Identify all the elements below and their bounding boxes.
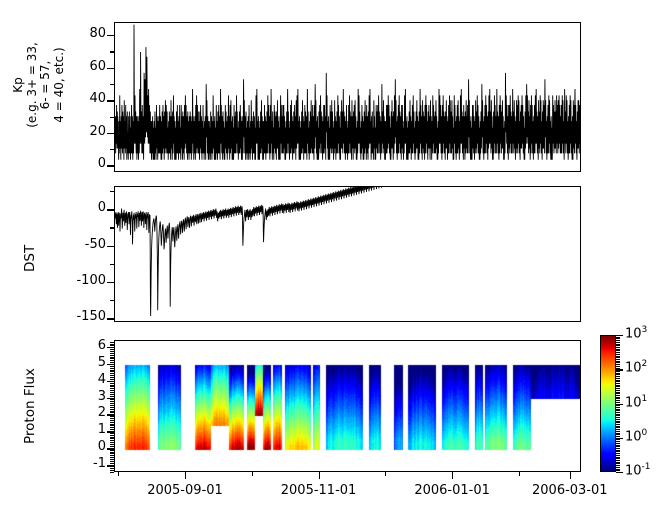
- y-minor-tick-mark: [110, 455, 114, 456]
- y-minor-tick-mark: [110, 264, 114, 265]
- y-minor-tick-mark: [110, 358, 114, 359]
- x-minor-tick-mark: [385, 472, 386, 476]
- colorbar-minor-tick-mark: [616, 359, 620, 360]
- y-tick-label: 0: [40, 156, 106, 171]
- y-minor-tick-mark: [110, 414, 114, 415]
- x-tick-mark: [570, 472, 571, 479]
- y-tick-mark: [107, 246, 114, 247]
- colorbar-minor-tick-mark: [616, 426, 620, 427]
- colorbar-minor-tick-mark: [616, 450, 620, 451]
- y-minor-tick-mark: [110, 349, 114, 350]
- y-minor-tick-mark: [110, 396, 114, 397]
- colorbar-minor-tick-mark: [616, 470, 620, 471]
- x-minor-tick-mark: [519, 472, 520, 476]
- y-minor-tick-mark: [110, 472, 114, 473]
- y-minor-tick-mark: [110, 392, 114, 393]
- y-minor-tick-mark: [110, 403, 114, 404]
- y-tick-label: 3: [60, 389, 106, 404]
- y-tick-mark: [107, 68, 114, 69]
- y-minor-tick-mark: [110, 440, 114, 441]
- colorbar-minor-tick-mark: [616, 445, 620, 446]
- y-minor-tick-mark: [110, 344, 114, 345]
- colorbar-minor-tick-mark: [616, 424, 620, 425]
- colorbar-minor-tick-mark: [616, 417, 620, 418]
- y-minor-tick-mark: [110, 373, 114, 374]
- colorbar-minor-tick-mark: [616, 469, 620, 470]
- y-minor-tick-mark: [110, 84, 114, 85]
- colorbar-minor-tick-mark: [616, 350, 620, 351]
- y-minor-tick-mark: [110, 381, 114, 382]
- y-minor-tick-mark: [110, 437, 114, 438]
- y-minor-tick-mark: [110, 191, 114, 192]
- y-minor-tick-mark: [110, 465, 114, 466]
- colorbar-tick-label: 101: [625, 394, 647, 410]
- x-minor-tick-mark: [185, 472, 186, 476]
- y-minor-tick-mark: [110, 357, 114, 358]
- dst-timeseries-plot: [115, 187, 580, 321]
- y-minor-tick-mark: [110, 448, 114, 449]
- colorbar-minor-tick-mark: [616, 410, 620, 411]
- colorbar-minor-tick-mark: [616, 460, 620, 461]
- y-minor-tick-mark: [110, 429, 114, 430]
- colorbar-minor-tick-mark: [616, 429, 620, 430]
- colorbar-minor-tick-mark: [616, 345, 620, 346]
- y-minor-tick-mark: [110, 459, 114, 460]
- x-minor-tick-mark: [319, 472, 320, 476]
- x-tick-label: 2005-09-01: [130, 483, 240, 498]
- y-minor-tick-mark: [110, 345, 114, 346]
- y-minor-tick-mark: [110, 416, 114, 417]
- y-minor-tick-mark: [110, 362, 114, 363]
- y-tick-mark: [107, 318, 114, 319]
- y-minor-tick-mark: [110, 422, 114, 423]
- y-minor-tick-mark: [110, 466, 114, 467]
- kp-timeseries-plot: [115, 23, 580, 171]
- dst-axis-label: DST: [22, 245, 38, 272]
- y-minor-tick-mark: [110, 412, 114, 413]
- y-minor-tick-mark: [110, 227, 114, 228]
- series-path: [115, 25, 580, 160]
- colorbar-minor-tick-mark: [616, 388, 620, 389]
- y-minor-tick-mark: [110, 353, 114, 354]
- colorbar-minor-tick-mark: [616, 443, 620, 444]
- y-tick-label: 5: [60, 355, 106, 370]
- colorbar-minor-tick-mark: [616, 373, 620, 374]
- figure-root: Kp (e.g. 3+ = 33, 6- = 57, 4 = 40, etc.)…: [0, 0, 665, 523]
- y-minor-tick-mark: [110, 371, 114, 372]
- y-minor-tick-mark: [110, 364, 114, 365]
- colorbar-minor-tick-mark: [616, 463, 620, 464]
- y-tick-mark: [107, 282, 114, 283]
- colorbar-minor-tick-mark: [616, 364, 620, 365]
- colorbar-minor-tick-mark: [616, 369, 620, 370]
- y-tick-mark: [107, 35, 114, 36]
- y-tick-label: -100: [40, 273, 106, 288]
- colorbar-minor-tick-mark: [616, 404, 620, 405]
- y-minor-tick-mark: [110, 401, 114, 402]
- y-minor-tick-mark: [110, 431, 114, 432]
- colorbar-minor-tick-mark: [616, 402, 620, 403]
- y-minor-tick-mark: [110, 446, 114, 447]
- colorbar-minor-tick-mark: [616, 357, 620, 358]
- y-minor-tick-mark: [110, 386, 114, 387]
- colorbar-minor-tick-mark: [616, 405, 620, 406]
- proton-flux-axis-label: Proton Flux: [22, 368, 38, 444]
- y-tick-mark: [107, 165, 114, 166]
- y-minor-tick-mark: [110, 351, 114, 352]
- colorbar-minor-tick-mark: [616, 361, 620, 362]
- y-minor-tick-mark: [110, 355, 114, 356]
- colorbar-tick-label: 102: [625, 359, 647, 375]
- x-tick-label: 2006-03-01: [515, 483, 625, 498]
- y-minor-tick-mark: [110, 470, 114, 471]
- colorbar-minor-tick-mark: [616, 342, 620, 343]
- y-minor-tick-mark: [110, 424, 114, 425]
- colorbar-minor-tick-mark: [616, 374, 620, 375]
- colorbar-minor-tick-mark: [616, 386, 620, 387]
- y-tick-label: -1: [60, 456, 106, 471]
- y-tick-label: 20: [40, 124, 106, 139]
- colorbar-minor-tick-mark: [616, 446, 620, 447]
- colorbar-minor-tick-mark: [616, 414, 620, 415]
- y-minor-tick-mark: [110, 461, 114, 462]
- y-tick-label: 0: [40, 200, 106, 215]
- y-minor-tick-mark: [110, 433, 114, 434]
- y-minor-tick-mark: [110, 383, 114, 384]
- x-minor-tick-mark: [252, 472, 253, 476]
- colorbar-minor-tick-mark: [616, 439, 620, 440]
- series-path: [115, 187, 580, 316]
- y-tick-label: 80: [40, 26, 106, 41]
- y-minor-tick-mark: [110, 342, 114, 343]
- y-tick-label: 0: [60, 439, 106, 454]
- y-minor-tick-mark: [110, 468, 114, 469]
- colorbar-minor-tick-mark: [616, 393, 620, 394]
- y-tick-label: 2: [60, 405, 106, 420]
- y-minor-tick-mark: [110, 409, 114, 410]
- y-minor-tick-mark: [110, 407, 114, 408]
- colorbar-minor-tick-mark: [616, 422, 620, 423]
- colorbar-minor-tick-mark: [616, 448, 620, 449]
- colorbar-minor-tick-mark: [616, 362, 620, 363]
- colorbar-minor-tick-mark: [616, 455, 620, 456]
- colorbar-minor-tick-mark: [616, 427, 620, 428]
- y-minor-tick-mark: [110, 435, 114, 436]
- y-minor-tick-mark: [110, 300, 114, 301]
- y-minor-tick-mark: [110, 388, 114, 389]
- y-minor-tick-mark: [110, 457, 114, 458]
- colorbar-minor-tick-mark: [616, 392, 620, 393]
- y-tick-mark: [107, 100, 114, 101]
- colorbar-minor-tick-mark: [616, 398, 620, 399]
- y-minor-tick-mark: [110, 452, 114, 453]
- y-minor-tick-mark: [110, 398, 114, 399]
- y-minor-tick-mark: [110, 149, 114, 150]
- colorbar-tick-label: 10-1: [625, 462, 651, 478]
- colorbar-tick-label: 100: [625, 428, 647, 444]
- colorbar-minor-tick-mark: [616, 335, 620, 336]
- colorbar-minor-tick-mark: [616, 441, 620, 442]
- colorbar-minor-tick-mark: [616, 371, 620, 372]
- y-minor-tick-mark: [110, 370, 114, 371]
- colorbar-minor-tick-mark: [616, 457, 620, 458]
- colorbar-minor-tick-mark: [616, 472, 620, 473]
- colorbar-minor-tick-mark: [616, 438, 620, 439]
- colorbar-minor-tick-mark: [616, 434, 620, 435]
- colorbar-minor-tick-mark: [616, 465, 620, 466]
- y-minor-tick-mark: [110, 427, 114, 428]
- colorbar-minor-tick-mark: [616, 431, 620, 432]
- kp-plot-panel: [114, 22, 581, 172]
- colorbar-minor-tick-mark: [616, 344, 620, 345]
- y-minor-tick-mark: [110, 438, 114, 439]
- colorbar-minor-tick-mark: [616, 347, 620, 348]
- y-minor-tick-mark: [110, 375, 114, 376]
- x-tick-label: 2005-11-01: [264, 483, 374, 498]
- y-minor-tick-mark: [110, 405, 114, 406]
- colorbar-minor-tick-mark: [616, 415, 620, 416]
- colorbar-gradient: [600, 335, 616, 472]
- colorbar-minor-tick-mark: [616, 397, 620, 398]
- y-minor-tick-mark: [110, 394, 114, 395]
- colorbar-minor-tick-mark: [616, 340, 620, 341]
- colorbar-minor-tick-mark: [616, 368, 620, 369]
- colorbar-minor-tick-mark: [616, 412, 620, 413]
- y-tick-mark: [107, 133, 114, 134]
- colorbar-minor-tick-mark: [616, 338, 620, 339]
- y-minor-tick-mark: [110, 411, 114, 412]
- colorbar-minor-tick-mark: [616, 352, 620, 353]
- colorbar-minor-tick-mark: [616, 376, 620, 377]
- colorbar-minor-tick-mark: [616, 421, 620, 422]
- colorbar-minor-tick-mark: [616, 390, 620, 391]
- colorbar-minor-tick-mark: [616, 354, 620, 355]
- colorbar-minor-tick-mark: [616, 467, 620, 468]
- colorbar-tick-label: 103: [625, 325, 647, 341]
- y-minor-tick-mark: [110, 463, 114, 464]
- colorbar-minor-tick-mark: [616, 356, 620, 357]
- y-minor-tick-mark: [110, 368, 114, 369]
- y-minor-tick-mark: [110, 377, 114, 378]
- colorbar-minor-tick-mark: [616, 385, 620, 386]
- colorbar-minor-tick-mark: [616, 349, 620, 350]
- y-tick-label: 60: [40, 59, 106, 74]
- y-minor-tick-mark: [110, 399, 114, 400]
- y-minor-tick-mark: [110, 360, 114, 361]
- y-minor-tick-mark: [110, 442, 114, 443]
- y-minor-tick-mark: [110, 385, 114, 386]
- y-minor-tick-mark: [110, 418, 114, 419]
- dst-plot-panel: [114, 186, 581, 322]
- colorbar-minor-tick-mark: [616, 462, 620, 463]
- y-minor-tick-mark: [110, 117, 114, 118]
- y-tick-label: 1: [60, 422, 106, 437]
- y-minor-tick-mark: [110, 379, 114, 380]
- colorbar-minor-tick-mark: [616, 433, 620, 434]
- colorbar-minor-tick-mark: [616, 458, 620, 459]
- colorbar-minor-tick-mark: [616, 337, 620, 338]
- proton-flux-plot-panel: [114, 340, 581, 472]
- y-tick-label: 6: [60, 338, 106, 353]
- colorbar-minor-tick-mark: [616, 395, 620, 396]
- colorbar-minor-tick-mark: [616, 378, 620, 379]
- proton-flux-heatmap: [115, 341, 581, 472]
- colorbar-minor-tick-mark: [616, 419, 620, 420]
- y-tick-label: -50: [40, 237, 106, 252]
- colorbar-minor-tick-mark: [616, 453, 620, 454]
- y-tick-label: -150: [40, 309, 106, 324]
- y-minor-tick-mark: [110, 453, 114, 454]
- colorbar-minor-tick-mark: [616, 436, 620, 437]
- y-minor-tick-mark: [110, 347, 114, 348]
- colorbar-minor-tick-mark: [616, 380, 620, 381]
- y-minor-tick-mark: [110, 390, 114, 391]
- colorbar-minor-tick-mark: [616, 366, 620, 367]
- x-minor-tick-mark: [452, 472, 453, 476]
- colorbar-minor-tick-mark: [616, 383, 620, 384]
- y-minor-tick-mark: [110, 444, 114, 445]
- x-tick-label: 2006-01-01: [397, 483, 507, 498]
- y-minor-tick-mark: [110, 450, 114, 451]
- y-tick-mark: [107, 209, 114, 210]
- colorbar-minor-tick-mark: [616, 407, 620, 408]
- y-minor-tick-mark: [110, 51, 114, 52]
- y-minor-tick-mark: [110, 420, 114, 421]
- colorbar-minor-tick-mark: [616, 451, 620, 452]
- colorbar-minor-tick-mark: [616, 409, 620, 410]
- colorbar-minor-tick-mark: [616, 400, 620, 401]
- y-tick-label: 4: [60, 372, 106, 387]
- y-minor-tick-mark: [110, 366, 114, 367]
- y-tick-label: 40: [40, 91, 106, 106]
- x-minor-tick-mark: [118, 472, 119, 476]
- colorbar-minor-tick-mark: [616, 381, 620, 382]
- y-minor-tick-mark: [110, 425, 114, 426]
